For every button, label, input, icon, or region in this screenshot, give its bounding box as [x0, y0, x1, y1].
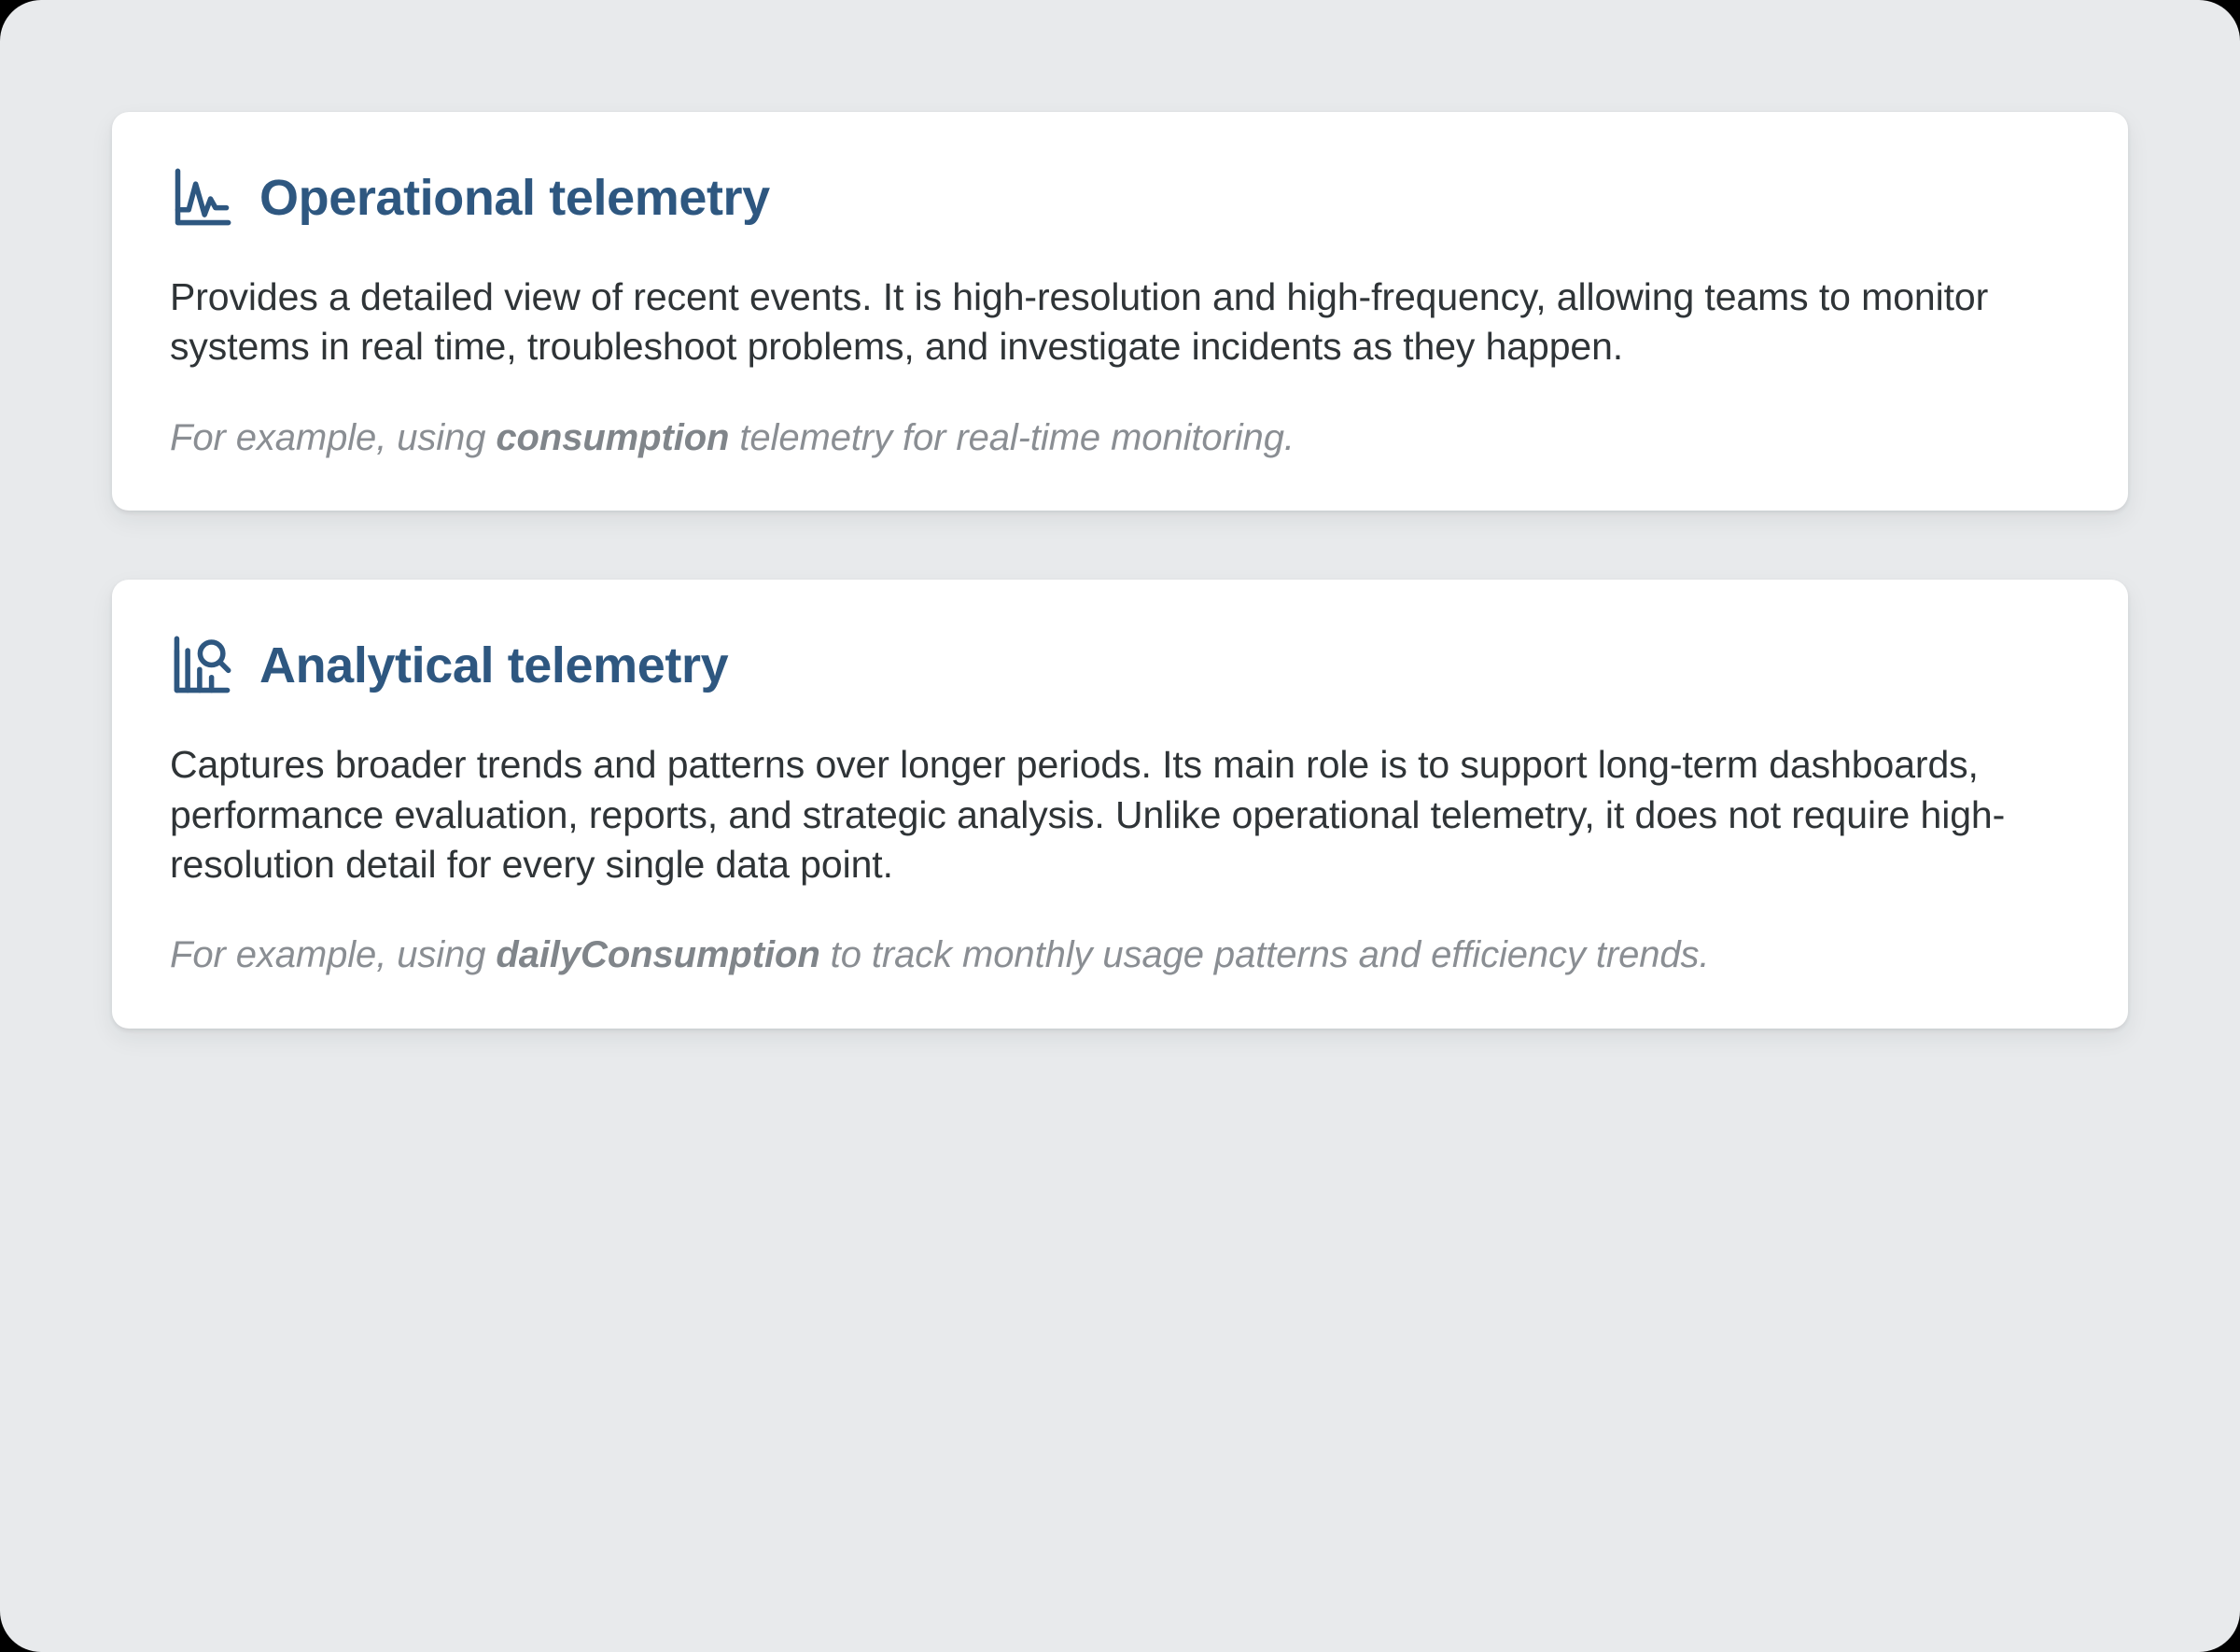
- example-suffix: to track monthly usage patterns and effi…: [820, 934, 1710, 975]
- example-prefix: For example, using: [170, 417, 496, 458]
- card-body-text: Captures broader trends and patterns ove…: [170, 740, 2027, 889]
- example-term: dailyConsumption: [496, 934, 819, 975]
- bar-chart-magnifier-icon: [170, 634, 233, 697]
- card-body-text: Provides a detailed view of recent event…: [170, 273, 2027, 372]
- example-term: consumption: [496, 417, 729, 458]
- card-analytical-telemetry: Analytical telemetry Captures broader tr…: [112, 580, 2128, 1029]
- card-title: Analytical telemetry: [259, 639, 728, 693]
- card-example-text: For example, using dailyConsumption to t…: [170, 931, 2018, 980]
- card-header: Operational telemetry: [170, 166, 2070, 230]
- line-chart-activity-icon: [170, 166, 233, 230]
- page-surface: Operational telemetry Provides a detaile…: [0, 0, 2240, 1652]
- example-prefix: For example, using: [170, 934, 496, 975]
- card-header: Analytical telemetry: [170, 634, 2070, 697]
- card-title: Operational telemetry: [259, 172, 770, 225]
- card-operational-telemetry: Operational telemetry Provides a detaile…: [112, 112, 2128, 511]
- example-suffix: telemetry for real-time monitoring.: [729, 417, 1294, 458]
- card-example-text: For example, using consumption telemetry…: [170, 413, 2018, 463]
